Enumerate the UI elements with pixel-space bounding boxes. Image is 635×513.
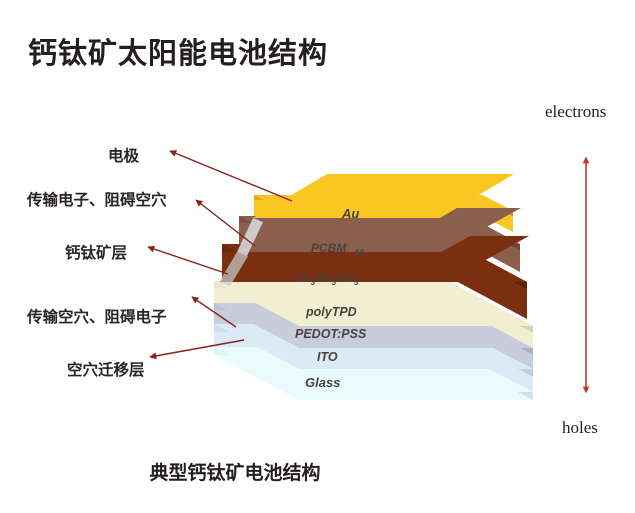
layer-label-ito: ITO [317,350,338,364]
annotation-label-hole-transport: 传输空穴、阻碍电子 [27,305,167,327]
stack-layer-polytpd [214,281,533,348]
stack-left-bevel [237,218,263,256]
stack-layer-pedot-pss [214,303,533,369]
stack-top-faces [219,205,527,251]
stack-layer-perovskite [222,244,527,319]
layer-label-au: Au [341,206,359,221]
stack-layer-glass [214,347,533,400]
stack-layer-pcbm [239,216,520,272]
annotation-arrow-hole-transport [192,297,236,327]
stack-layer-au [254,160,513,261]
layer-label-pcbm: PCBM [311,241,347,255]
layer-label-perovskite: CH3NH3PbI3 [294,273,359,287]
carrier-label-holes: holes [562,418,598,438]
slab-perovskite [219,236,529,282]
annotation-label-electrode: 电极 [108,144,139,166]
annotation-arrow-electron-transport [196,200,255,246]
layer-label-glass: Glass [305,375,340,390]
layer-label-pcbm-group: PCBM 60 [311,241,364,257]
slab-pcbm [237,208,521,252]
stack-layer-au-topface [272,157,501,246]
annotation-label-hole-migration: 空穴迁移层 [67,358,145,380]
slab-au [253,174,514,218]
annotation-arrow-perovskite [148,247,228,274]
annotation-arrow-electrode [170,151,292,201]
annotation-label-perovskite: 钙钛矿层 [65,241,127,263]
stack-left-bevel-2 [219,252,248,286]
layer-label-polytpd: polyTPD [305,305,357,319]
layer-label-pcbm-subscript: 60 [355,248,364,257]
page-title: 钙钛矿太阳能电池结构 [28,30,328,72]
carrier-label-electrons: electrons [545,102,606,122]
stack-layer-ito [214,324,533,392]
layer-label-pedot-pss: PEDOT:PSS [295,327,367,341]
layer-label-perovskite-group: CH3NH3PbI3 [294,273,359,287]
figure-caption: 典型钙钛矿电池结构 [0,458,470,485]
annotation-arrow-hole-migration [150,340,244,357]
annotation-label-electron-transport: 传输电子、阻碍空穴 [27,188,167,210]
